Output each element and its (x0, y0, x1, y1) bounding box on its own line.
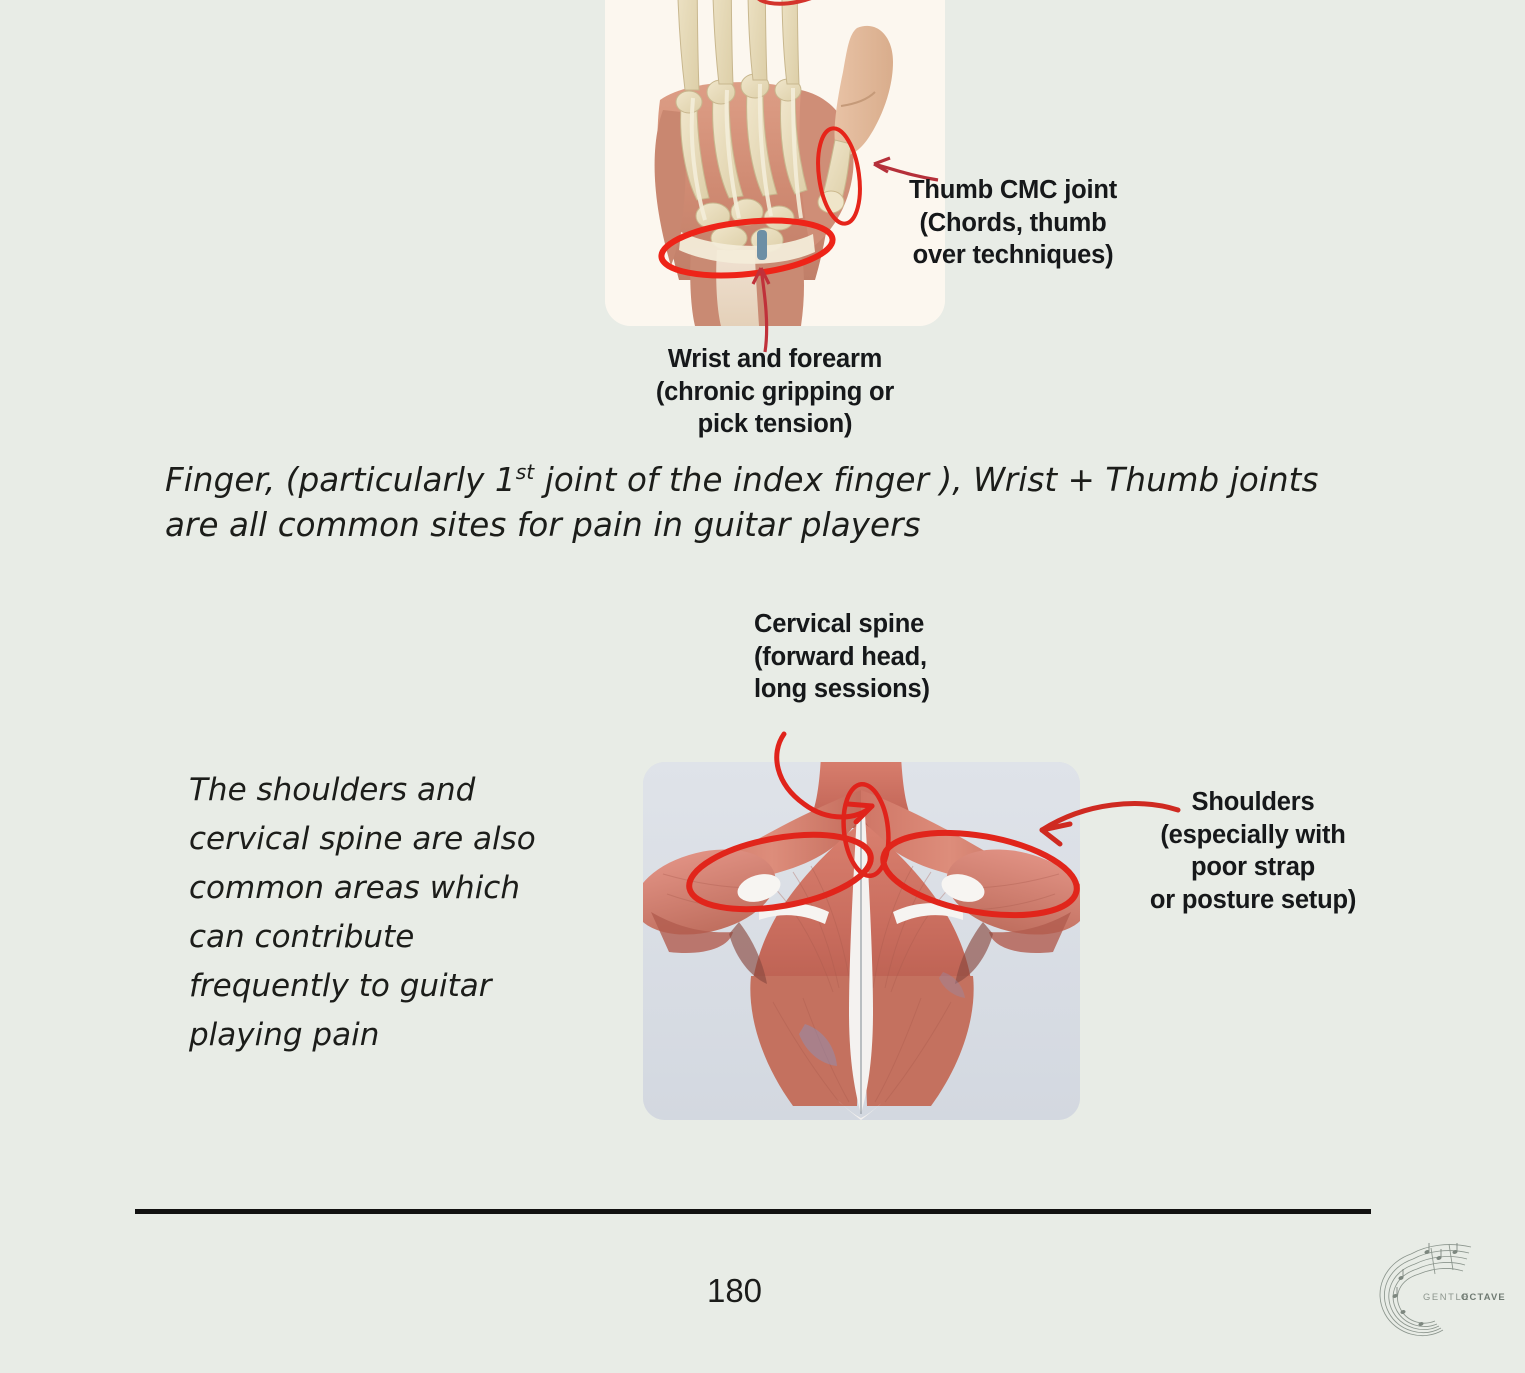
cervical-spine-line-1: Cervical spine (754, 608, 1054, 641)
wrist-forearm-line-3: pick tension) (630, 408, 920, 441)
shoulders-line-4: or posture setup) (1118, 884, 1388, 917)
shoulders-cervical-paragraph: The shoulders and cervical spine are als… (189, 766, 549, 1060)
shoulders-annotation: Shoulders (especially with poor strap or… (1118, 786, 1388, 917)
finger-pain-paragraph: Finger, (particularly 1st joint of the i… (165, 458, 1380, 548)
wrist-forearm-line-1: Wrist and forearm (630, 343, 920, 376)
shoulders-line-1: Shoulders (1118, 786, 1388, 819)
gentle-octaves-crescent-staff-icon: GENTLE OCTAVES (1365, 1238, 1505, 1350)
wrist-forearm-line-2: (chronic gripping or (630, 376, 920, 409)
finger-paragraph-ordinal: st (516, 460, 535, 484)
shoulders-line-3: poor strap (1118, 851, 1388, 884)
cervical-spine-annotation: Cervical spine (forward head, long sessi… (754, 608, 1054, 706)
finger-paragraph-part-1: Finger, (particularly 1 (165, 461, 516, 499)
shoulders-line-2: (especially with (1118, 819, 1388, 852)
thumb-cmc-annotation: Thumb CMC joint (Chords, thumb over tech… (893, 174, 1133, 272)
wrist-forearm-annotation: Wrist and forearm (chronic gripping or p… (630, 343, 920, 441)
footer-divider (135, 1209, 1371, 1214)
cervical-spine-line-3: long sessions) (754, 673, 1054, 706)
brand-name-octaves: OCTAVES (1461, 1291, 1505, 1302)
page-number: 180 (0, 1272, 1525, 1310)
page-number-value: 180 (707, 1272, 762, 1310)
thumb-cmc-line-3: over techniques) (893, 239, 1133, 272)
slide-page: Thumb CMC joint (Chords, thumb over tech… (0, 0, 1525, 1373)
wrist-forearm-pointer-arrow (735, 256, 805, 356)
thumb-cmc-line-1: Thumb CMC joint (893, 174, 1133, 207)
brand-logo: GENTLE OCTAVES (1365, 1238, 1505, 1350)
cervical-spine-line-2: (forward head, (754, 641, 1054, 674)
shoulder-highlight-circles (660, 810, 1090, 950)
thumb-cmc-line-2: (Chords, thumb (893, 207, 1133, 240)
